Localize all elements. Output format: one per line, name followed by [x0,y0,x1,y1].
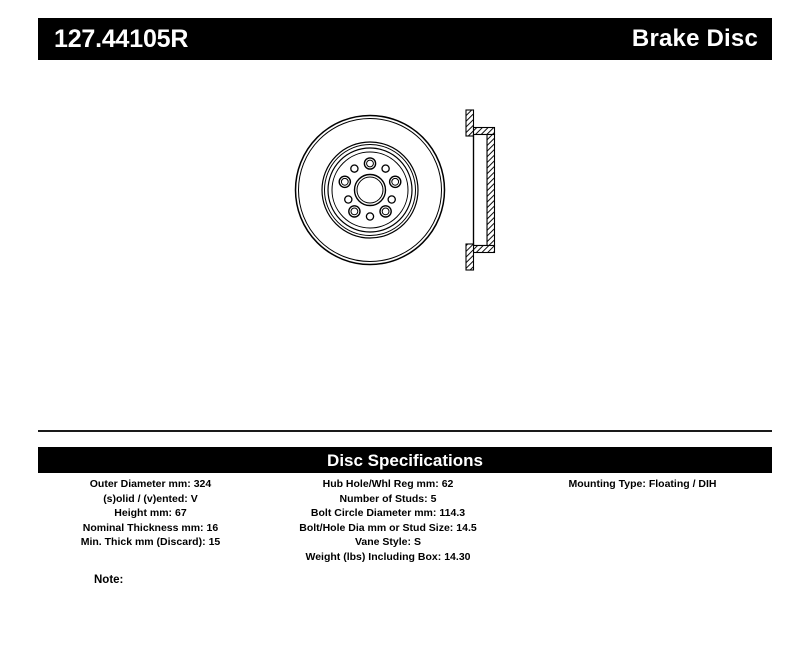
spec-column-middle: Hub Hole/Whl Reg mm: 62 Number of Studs:… [263,477,513,564]
spec-row: Number of Studs: 5 [263,492,513,507]
spec-value: 114.3 [436,506,465,521]
spec-label: Min. Thick mm (Discard): [81,535,206,550]
brake-disc-face-view [296,116,445,265]
spec-value: 15 [206,535,221,550]
spec-value: V [188,492,198,507]
spec-row: Bolt Circle Diameter mm: 114.3 [263,506,513,521]
note-area: Note: [38,570,772,588]
section-divider [38,430,772,432]
spec-value: Floating / DIH [646,477,717,492]
spec-label: Weight (lbs) Including Box: [306,550,442,565]
spec-row: Height mm: 67 [38,506,263,521]
spec-row: Vane Style: S [263,535,513,550]
part-number: 127.44105R [54,27,188,52]
brake-disc-drawing [283,100,523,290]
spec-row: Nominal Thickness mm: 16 [38,521,263,536]
spec-column-right: Mounting Type: Floating / DIH [513,477,772,492]
spec-row: Outer Diameter mm: 324 [38,477,263,492]
spec-value: 14.30 [441,550,470,565]
spec-row: Hub Hole/Whl Reg mm: 62 [263,477,513,492]
spec-row: Min. Thick mm (Discard): 15 [38,535,263,550]
lug-holes [339,158,401,217]
small-holes [345,165,396,220]
spec-label: (s)olid / (v)ented: [103,492,188,507]
spec-value: 5 [428,492,437,507]
brake-disc-side-profile-view [466,110,495,270]
header-bar: 127.44105R Brake Disc [38,18,772,60]
spec-value: 14.5 [453,521,476,536]
spec-label: Bolt Circle Diameter mm: [311,506,436,521]
spec-value: 324 [191,477,212,492]
spec-label: Number of Studs: [340,492,428,507]
spec-value: 16 [204,521,219,536]
product-type-label: Brake Disc [632,27,758,51]
disc-specifications-bar: Disc Specifications [38,447,772,473]
spec-label: Nominal Thickness mm: [83,521,204,536]
spec-row: Weight (lbs) Including Box: 14.30 [263,550,513,565]
spec-row: (s)olid / (v)ented: V [38,492,263,507]
spec-row: Mounting Type: Floating / DIH [513,477,772,492]
spec-value: 67 [172,506,187,521]
spec-label: Bolt/Hole Dia mm or Stud Size: [299,521,453,536]
spec-label: Outer Diameter mm: [90,477,191,492]
specifications-table: Outer Diameter mm: 324 (s)olid / (v)ente… [38,477,772,564]
spec-label: Hub Hole/Whl Reg mm: [323,477,439,492]
spec-value: S [411,535,421,550]
spec-row: Bolt/Hole Dia mm or Stud Size: 14.5 [263,521,513,536]
spec-value: 62 [439,477,454,492]
note-label: Note: [94,574,123,586]
specs-section-title: Disc Specifications [327,452,483,469]
spec-label: Mounting Type: [568,477,645,492]
spec-column-left: Outer Diameter mm: 324 (s)olid / (v)ente… [38,477,263,550]
spec-label: Height mm: [114,506,172,521]
spec-label: Vane Style: [355,535,411,550]
brake-disc-illustration [283,100,523,290]
